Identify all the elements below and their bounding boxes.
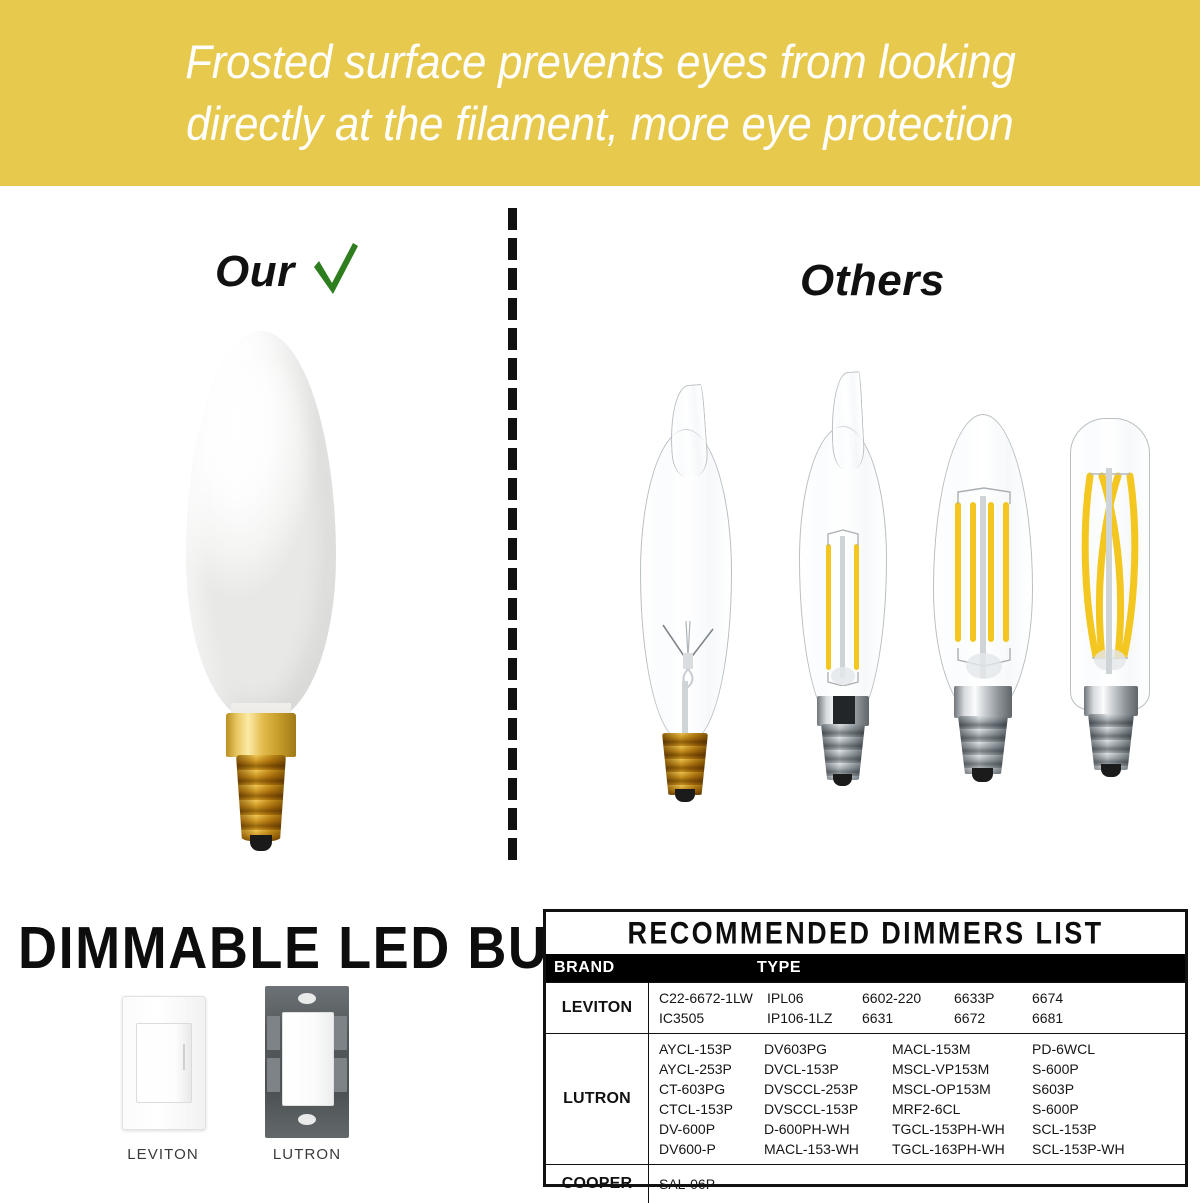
type-column: IPL06 IP106-1LZ [767, 988, 862, 1028]
silver-base-collar [954, 686, 1012, 718]
silver-screw-thread [821, 724, 865, 780]
filament-support-wires [946, 486, 1022, 686]
model-number: S-600P [1032, 1059, 1125, 1079]
silver-screw-thread [958, 716, 1008, 774]
model-number: S-600P [1032, 1099, 1125, 1119]
model-number: TGCL-163PH-WH [892, 1139, 1032, 1159]
type-cell: C22-6672-1LW IC3505 IPL06 IP106-1LZ 6602… [649, 983, 1185, 1033]
model-number: IC3505 [659, 1008, 767, 1028]
other-bulb-torpedo-led [930, 414, 1036, 786]
leviton-caption: LEVITON [102, 1146, 224, 1163]
table-row: LUTRON AYCL-153P AYCL-253P CT-603PG CTCL… [546, 1033, 1185, 1164]
lutron-dimmer-paddle [282, 1012, 334, 1106]
type-column: MACL-153M MSCL-VP153M MSCL-OP153M MRF2-6… [892, 1039, 1032, 1159]
lutron-mount-tab [267, 1058, 280, 1092]
model-number: AYCL-253P [659, 1059, 764, 1079]
model-number: CT-603PG [659, 1079, 764, 1099]
our-label-group: Our [215, 241, 361, 302]
type-column: PD-6WCL S-600P S603P S-600P SCL-153P SCL… [1032, 1039, 1125, 1159]
model-number: 6672 [954, 1008, 1032, 1028]
our-label: Our [215, 247, 295, 297]
recommended-dimmers-table: RECOMMENDED DIMMERS LIST BRAND TYPE LEVI… [543, 909, 1188, 1187]
brand-cell: COOPER [546, 1165, 649, 1203]
model-number: 6602-220 [862, 988, 954, 1008]
our-frosted-bulb [186, 331, 336, 851]
lutron-mount-hole [298, 993, 316, 1004]
type-column: AYCL-153P AYCL-253P CT-603PG CTCL-153P D… [659, 1039, 764, 1159]
glass-stem [1106, 468, 1112, 674]
brand-cell: LEVITON [546, 983, 649, 1033]
model-number: DV600-P [659, 1139, 764, 1159]
model-number: DVCL-153P [764, 1059, 892, 1079]
model-number: PD-6WCL [1032, 1039, 1125, 1059]
lutron-mount-tab [334, 1016, 347, 1050]
column-header-brand: BRAND [546, 959, 649, 977]
column-header-type: TYPE [649, 959, 801, 977]
model-number: MACL-153-WH [764, 1139, 892, 1159]
dimmers-table-title: RECOMMENDED DIMMERS LIST [546, 908, 1185, 958]
model-number: DV-600P [659, 1119, 764, 1139]
lutron-dimmer-switch [265, 986, 349, 1138]
model-number: IPL06 [767, 988, 862, 1008]
others-label: Others [800, 256, 945, 306]
model-number: SCL-153P-WH [1032, 1139, 1125, 1159]
type-column: 6674 6681 [1032, 988, 1063, 1028]
glass-stem [682, 681, 688, 739]
lutron-mount-tab [267, 1016, 280, 1050]
frosted-glass-envelope [186, 331, 336, 721]
check-mark-icon [309, 241, 361, 302]
comparison-section: Our Others [0, 186, 1200, 886]
type-column: DV603PG DVCL-153P DVSCCL-253P DVSCCL-153… [764, 1039, 892, 1159]
model-number: CTCL-153P [659, 1099, 764, 1119]
leviton-rocker-paddle [136, 1023, 192, 1103]
model-number: MRF2-6CL [892, 1099, 1032, 1119]
brand-cell: LUTRON [546, 1034, 649, 1164]
flame-tip [667, 384, 709, 477]
base-contact-tip [972, 768, 993, 782]
incandescent-filament [660, 619, 716, 699]
model-number: C22-6672-1LW [659, 988, 767, 1008]
model-number: 6633P [954, 988, 1032, 1008]
type-column: C22-6672-1LW IC3505 [659, 988, 767, 1028]
gold-screw-thread [236, 755, 286, 841]
leviton-dimmer-switch [122, 996, 206, 1130]
type-column: SAL-06P [659, 1170, 715, 1198]
model-number: SAL-06P [659, 1174, 715, 1194]
vertical-dashed-divider [508, 208, 517, 868]
gold-screw-thread [662, 733, 708, 795]
filament-support-wires [817, 526, 869, 686]
base-contact-tip [833, 774, 852, 786]
other-bulb-flame-incandescent [636, 381, 736, 801]
other-bulb-tubular-led [1064, 418, 1160, 786]
model-number: DV603PG [764, 1039, 892, 1059]
model-number: MSCL-OP153M [892, 1079, 1032, 1099]
type-column: 6602-220 6631 [862, 988, 954, 1028]
model-number: DVSCCL-153P [764, 1099, 892, 1119]
table-row: COOPER SAL-06P [546, 1164, 1185, 1203]
model-number: SCL-153P [1032, 1119, 1125, 1139]
model-number: DVSCCL-253P [764, 1079, 892, 1099]
lutron-caption: LUTRON [246, 1146, 368, 1163]
banner-line-2: directly at the filament, more eye prote… [186, 93, 1013, 155]
base-contact-tip [250, 835, 272, 851]
model-number: 6681 [1032, 1008, 1063, 1028]
type-cell: AYCL-153P AYCL-253P CT-603PG CTCL-153P D… [649, 1034, 1185, 1164]
silver-screw-thread [1088, 714, 1134, 770]
banner-line-1: Frosted surface prevents eyes from looki… [185, 31, 1015, 93]
model-number: 6631 [862, 1008, 954, 1028]
model-number: MACL-153M [892, 1039, 1032, 1059]
lutron-mount-tab [334, 1058, 347, 1092]
model-number: IP106-1LZ [767, 1008, 862, 1028]
table-row: LEVITON C22-6672-1LW IC3505 IPL06 IP106-… [546, 982, 1185, 1033]
flame-tip [828, 371, 865, 470]
model-number: S603P [1032, 1079, 1125, 1099]
dimmable-led-bulb-title: DIMMABLE LED BULB [18, 914, 624, 982]
model-number: 6674 [1032, 988, 1063, 1008]
lutron-mount-hole [298, 1114, 316, 1125]
type-column: 6633P 6672 [954, 988, 1032, 1028]
base-contact-tip [1101, 764, 1121, 777]
model-number: TGCL-153PH-WH [892, 1119, 1032, 1139]
other-bulb-flame-led [795, 366, 891, 786]
base-contact-tip [675, 789, 695, 802]
model-number: MSCL-VP153M [892, 1059, 1032, 1079]
model-number: AYCL-153P [659, 1039, 764, 1059]
dimmers-table-header-row: BRAND TYPE [546, 954, 1185, 982]
gold-base-collar [226, 713, 296, 757]
model-number: D-600PH-WH [764, 1119, 892, 1139]
silver-base-collar [1084, 686, 1138, 716]
type-cell: SAL-06P [649, 1165, 1185, 1203]
header-banner: Frosted surface prevents eyes from looki… [0, 0, 1200, 186]
